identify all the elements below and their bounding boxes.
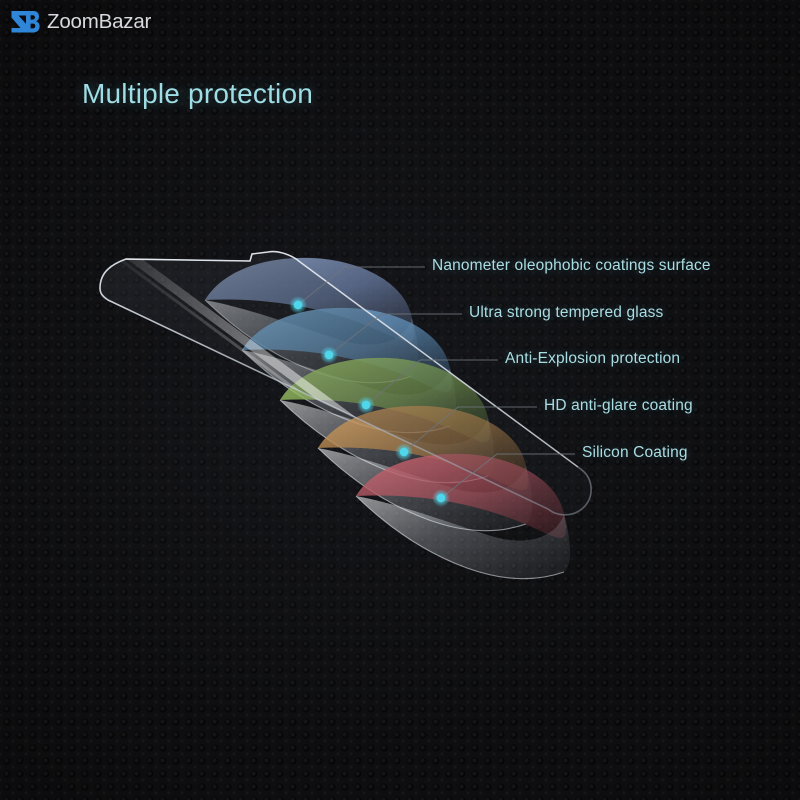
callout-label-1: Nanometer oleophobic coatings surface xyxy=(432,257,711,275)
callout-label-3: Anti-Explosion protection xyxy=(505,350,680,368)
brand-name: ZoomBazar xyxy=(47,10,151,34)
page-title: Multiple protection xyxy=(82,78,313,110)
callout-label-5: Silicon Coating xyxy=(582,444,688,462)
callout-label-4: HD anti-glare coating xyxy=(544,397,693,415)
brand-logo[interactable]: ZoomBazar xyxy=(10,8,151,36)
product-infographic: ZoomBazar Multiple protection Nanometer … xyxy=(0,0,800,800)
zb-monogram-icon xyxy=(10,8,40,36)
callout-label-2: Ultra strong tempered glass xyxy=(469,304,663,322)
